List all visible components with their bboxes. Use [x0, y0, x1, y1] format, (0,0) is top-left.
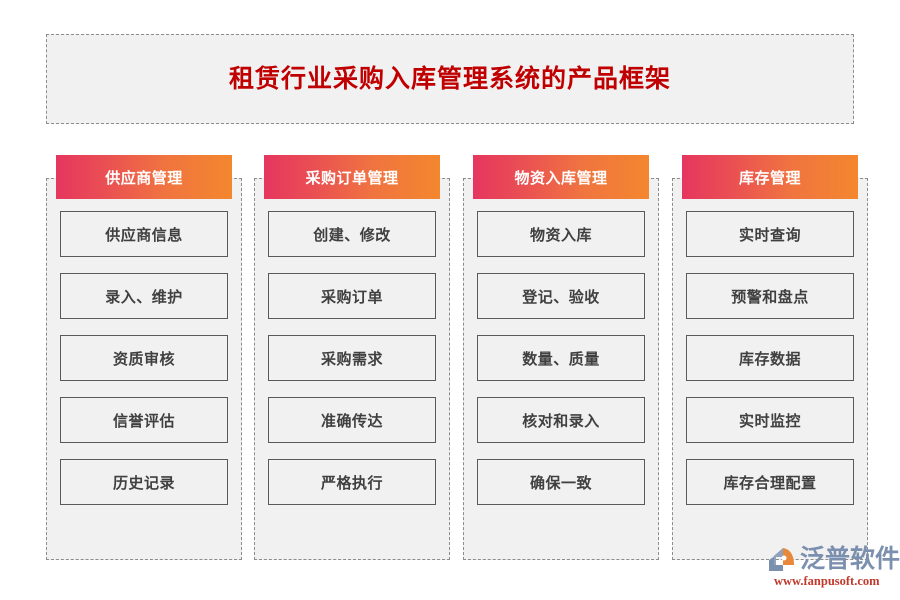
list-item-label: 库存合理配置 [723, 472, 816, 493]
title-banner: 租赁行业采购入库管理系统的产品框架 [46, 34, 854, 124]
list-item[interactable]: 确保一致 [477, 459, 645, 505]
list-item[interactable]: 实时查询 [686, 211, 854, 257]
list-item[interactable]: 库存合理配置 [686, 459, 854, 505]
framework-column: 采购订单管理 创建、修改 采购订单 采购需求 准确传达 严格执行 [254, 155, 450, 560]
list-item[interactable]: 创建、修改 [268, 211, 436, 257]
list-item[interactable]: 数量、质量 [477, 335, 645, 381]
column-item-list: 物资入库 登记、验收 数量、质量 核对和录入 确保一致 [463, 211, 659, 521]
list-item-label: 资质审核 [113, 348, 175, 369]
framework-column: 供应商管理 供应商信息 录入、维护 资质审核 信誉评估 历史记录 [46, 155, 242, 560]
framework-column: 物资入库管理 物资入库 登记、验收 数量、质量 核对和录入 确保一致 [463, 155, 659, 560]
column-item-list: 创建、修改 采购订单 采购需求 准确传达 严格执行 [254, 211, 450, 521]
list-item[interactable]: 资质审核 [60, 335, 228, 381]
column-item-list: 供应商信息 录入、维护 资质审核 信誉评估 历史记录 [46, 211, 242, 521]
column-header[interactable]: 物资入库管理 [473, 155, 649, 199]
list-item-label: 历史记录 [113, 472, 175, 493]
framework-column: 库存管理 实时查询 预警和盘点 库存数据 实时监控 库存合理配置 [672, 155, 868, 560]
list-item[interactable]: 信誉评估 [60, 397, 228, 443]
list-item[interactable]: 库存数据 [686, 335, 854, 381]
list-item[interactable]: 准确传达 [268, 397, 436, 443]
list-item[interactable]: 历史记录 [60, 459, 228, 505]
fanpu-swoosh-icon [768, 545, 798, 573]
list-item-label: 准确传达 [321, 410, 383, 431]
column-header[interactable]: 库存管理 [682, 155, 858, 199]
list-item-label: 信誉评估 [113, 410, 175, 431]
logo-website-url: www.fanpusoft.com [774, 574, 880, 589]
column-item-list: 实时查询 预警和盘点 库存数据 实时监控 库存合理配置 [672, 211, 868, 521]
logo-company-name: 泛普软件 [800, 545, 900, 573]
list-item-label: 实时监控 [739, 410, 801, 431]
list-item[interactable]: 物资入库 [477, 211, 645, 257]
list-item[interactable]: 核对和录入 [477, 397, 645, 443]
company-logo[interactable]: 泛普软件 www.fanpusoft.com [768, 545, 896, 593]
column-header[interactable]: 采购订单管理 [264, 155, 440, 199]
list-item-label: 库存数据 [739, 348, 801, 369]
list-item-label: 物资入库 [530, 224, 592, 245]
list-item-label: 创建、修改 [313, 224, 391, 245]
list-item[interactable]: 预警和盘点 [686, 273, 854, 319]
list-item-label: 录入、维护 [105, 286, 183, 307]
diagram-canvas: 租赁行业采购入库管理系统的产品框架 供应商管理 供应商信息 录入、维护 资质审核… [0, 0, 900, 600]
framework-columns: 供应商管理 供应商信息 录入、维护 资质审核 信誉评估 历史记录 采购订单管理 … [46, 155, 854, 560]
list-item[interactable]: 严格执行 [268, 459, 436, 505]
list-item-label: 采购需求 [321, 348, 383, 369]
list-item-label: 采购订单 [321, 286, 383, 307]
list-item-label: 核对和录入 [522, 410, 600, 431]
column-header-label: 采购订单管理 [305, 167, 398, 188]
list-item[interactable]: 实时监控 [686, 397, 854, 443]
list-item[interactable]: 录入、维护 [60, 273, 228, 319]
list-item-label: 实时查询 [739, 224, 801, 245]
column-header-label: 供应商管理 [105, 167, 183, 188]
list-item-label: 数量、质量 [522, 348, 600, 369]
column-header-label: 库存管理 [739, 167, 801, 188]
list-item-label: 供应商信息 [105, 224, 183, 245]
list-item-label: 确保一致 [530, 472, 592, 493]
list-item-label: 预警和盘点 [731, 286, 809, 307]
list-item[interactable]: 供应商信息 [60, 211, 228, 257]
column-header-label: 物资入库管理 [514, 167, 607, 188]
list-item[interactable]: 登记、验收 [477, 273, 645, 319]
column-header[interactable]: 供应商管理 [56, 155, 232, 199]
logo-row: 泛普软件 [768, 545, 900, 573]
list-item[interactable]: 采购订单 [268, 273, 436, 319]
list-item[interactable]: 采购需求 [268, 335, 436, 381]
list-item-label: 严格执行 [321, 472, 383, 493]
list-item-label: 登记、验收 [522, 286, 600, 307]
page-title: 租赁行业采购入库管理系统的产品框架 [229, 64, 671, 94]
